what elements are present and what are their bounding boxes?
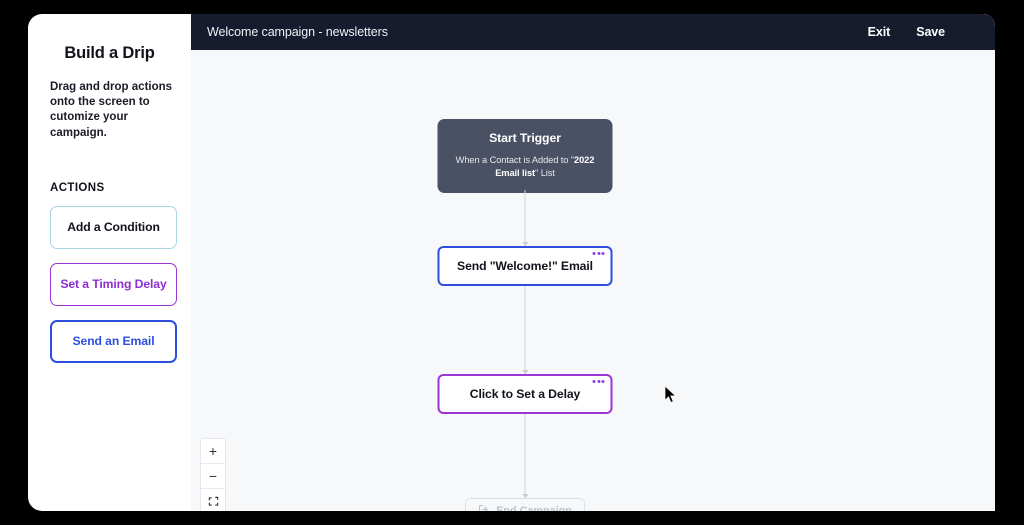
fit-screen-icon <box>208 495 219 509</box>
node-subtitle-prefix: When a Contact is Added to " <box>456 155 574 165</box>
action-label: Add a Condition <box>67 220 160 234</box>
action-send-an-email-button[interactable]: Send an Email <box>50 320 177 363</box>
app-window: Welcome campaign - newsletters Exit Save… <box>191 14 995 511</box>
node-send-email[interactable]: Send "Welcome!" Email <box>438 246 613 286</box>
action-set-timing-delay-button[interactable]: Set a Timing Delay <box>50 263 177 306</box>
sidebar-description: Drag and drop actions onto the screen to… <box>42 80 177 141</box>
exit-arrow-icon <box>478 504 489 511</box>
three-dots-icon[interactable] <box>593 380 605 383</box>
action-label: Send an Email <box>72 334 154 348</box>
node-label: End Campaign <box>496 505 572 511</box>
app-root: Build a Drip Drag and drop actions onto … <box>0 0 1024 525</box>
action-add-condition-button[interactable]: Add a Condition <box>50 206 177 249</box>
node-subtitle-suffix: " List <box>535 168 555 178</box>
action-label: Set a Timing Delay <box>60 277 166 291</box>
node-subtitle: When a Contact is Added to "2022 Email l… <box>452 154 599 179</box>
node-end-campaign[interactable]: End Campaign <box>465 498 585 511</box>
connector-delay-to-end <box>525 414 526 498</box>
node-label: Send "Welcome!" Email <box>457 259 593 273</box>
fit-screen-button[interactable] <box>201 489 225 511</box>
node-title: Start Trigger <box>452 131 599 145</box>
node-label: Click to Set a Delay <box>470 387 580 401</box>
node-start-trigger[interactable]: Start Trigger When a Contact is Added to… <box>438 119 613 193</box>
three-dots-icon[interactable] <box>593 252 605 255</box>
zoom-out-button[interactable]: − <box>201 464 225 489</box>
campaign-title: Welcome campaign - newsletters <box>207 25 388 39</box>
flow-canvas[interactable]: Start Trigger When a Contact is Added to… <box>191 50 995 511</box>
actions-heading: ACTIONS <box>42 182 177 194</box>
save-button[interactable]: Save <box>916 25 945 39</box>
page-title: Build a Drip <box>42 44 177 63</box>
top-bar: Welcome campaign - newsletters Exit Save <box>191 14 995 50</box>
connector-trigger-to-email <box>525 190 526 246</box>
actions-list: Add a Condition Set a Timing Delay Send … <box>42 206 177 363</box>
zoom-controls: + − <box>200 438 226 511</box>
zoom-in-button[interactable]: + <box>201 439 225 464</box>
connector-email-to-delay <box>525 286 526 374</box>
exit-button[interactable]: Exit <box>868 25 891 39</box>
node-set-delay[interactable]: Click to Set a Delay <box>438 374 613 414</box>
sidebar-panel: Build a Drip Drag and drop actions onto … <box>28 14 191 511</box>
top-bar-actions: Exit Save <box>868 25 995 39</box>
